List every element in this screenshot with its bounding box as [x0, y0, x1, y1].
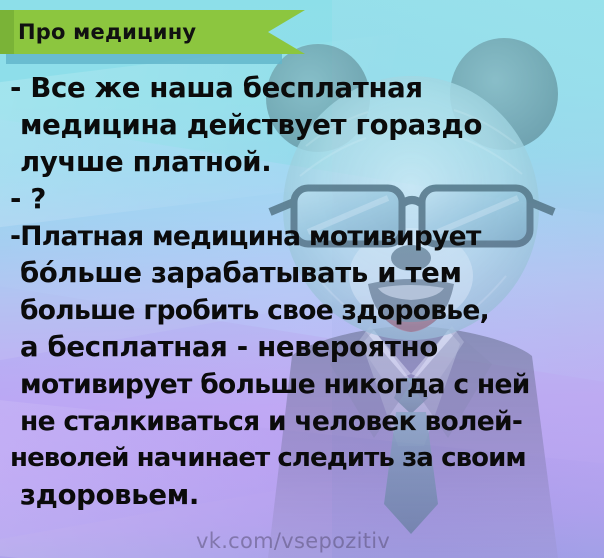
joke-line: здоровьем. [10, 477, 600, 514]
joke-line: бо́льше зарабатывать и тем [10, 255, 600, 292]
joke-line: медицина действует гораздо [10, 107, 600, 144]
joke-line: - ? [10, 181, 600, 218]
meme-image: Про медицину - Все же наша бесплатная ме… [0, 0, 604, 558]
page-title: Про медицину [18, 10, 196, 54]
joke-line: неволей начинает следить за своим [10, 440, 600, 477]
banner-fold [0, 10, 14, 54]
joke-line: лучше платной. [10, 144, 600, 181]
joke-line: больше гробить свое здоровье, [10, 292, 600, 329]
watermark: vk.com/vsepozitiv [196, 529, 390, 553]
joke-line: мотивирует больше никогда с ней [10, 366, 600, 403]
joke-line: не сталкиваться и человек волей- [10, 403, 600, 440]
joke-line: - Все же наша бесплатная [10, 70, 600, 107]
joke-text-block: - Все же наша бесплатная медицина действ… [0, 70, 604, 514]
joke-line: -Платная медицина мотивирует [10, 218, 600, 255]
title-banner: Про медицину [0, 10, 310, 66]
joke-line: а бесплатная - невероятно [10, 329, 600, 366]
